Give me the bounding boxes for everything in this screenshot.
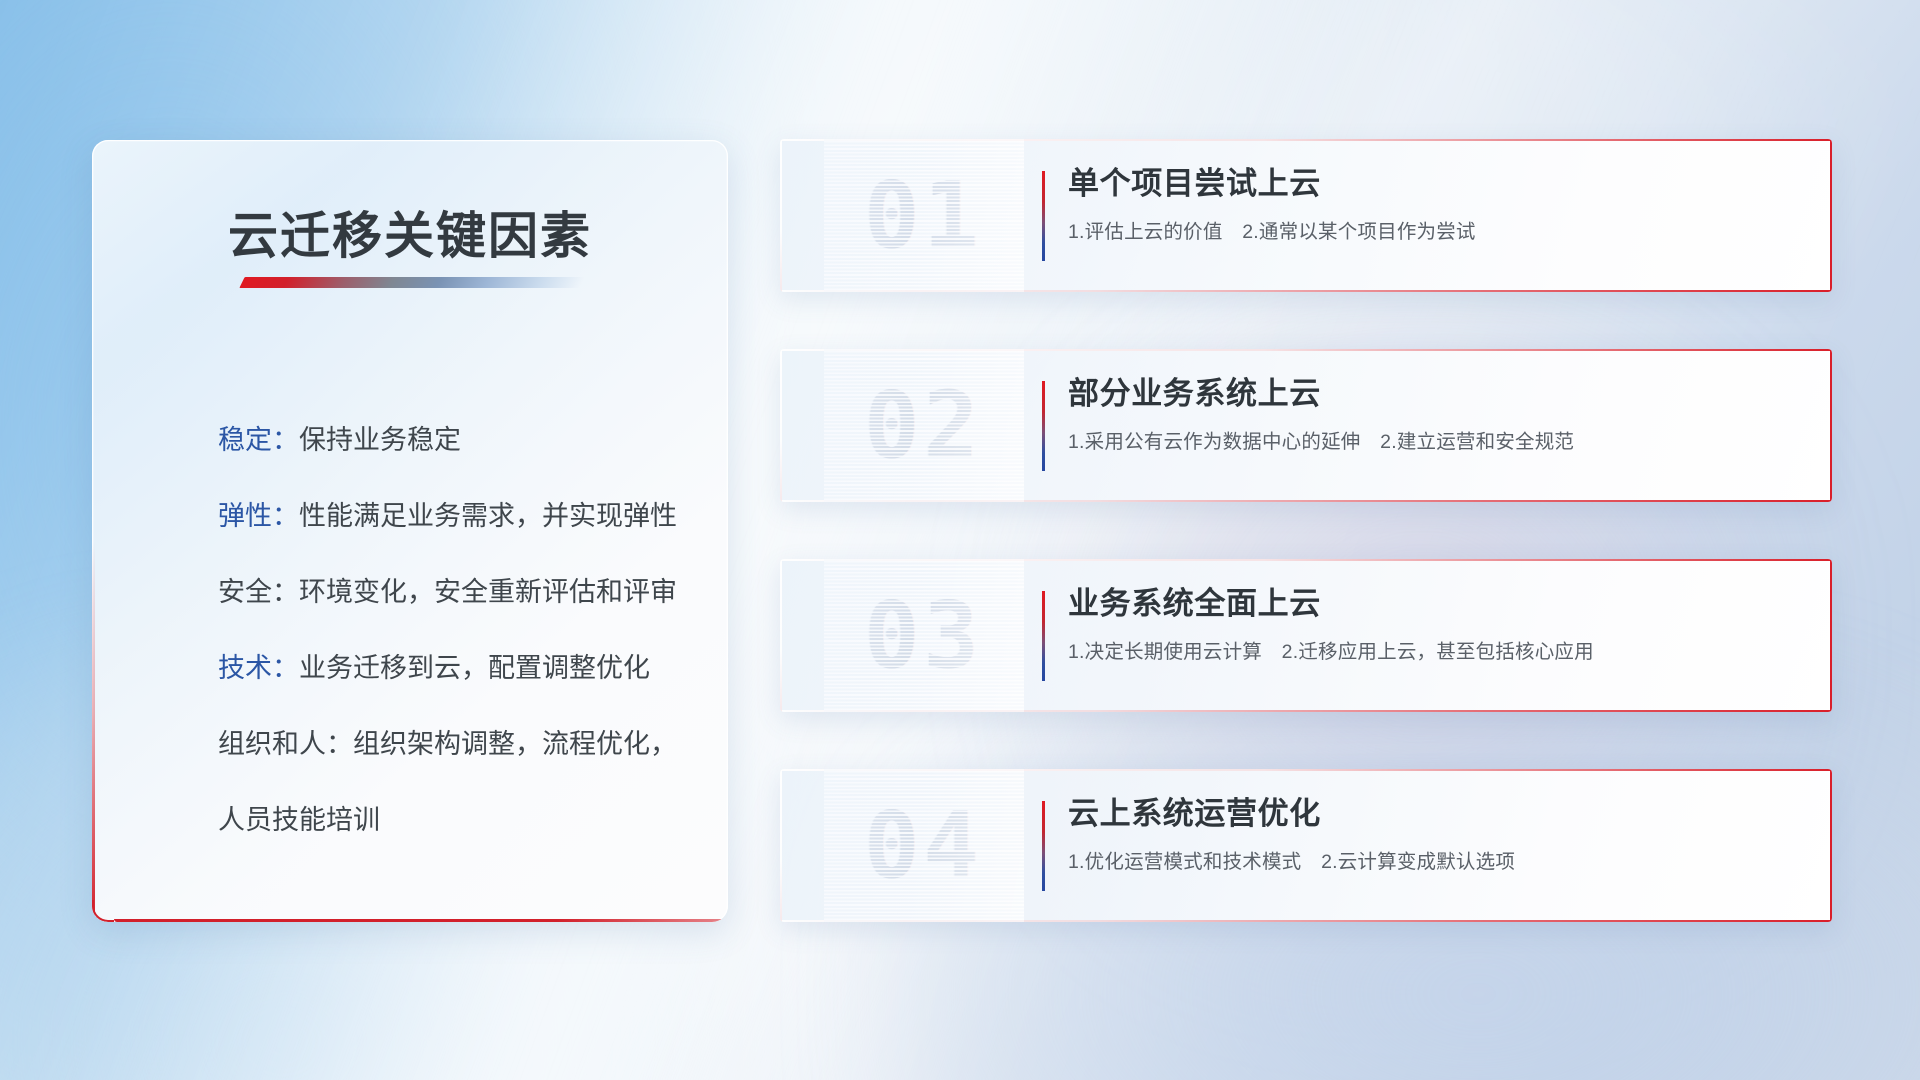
factor-row: 技术：业务迁移到云，配置调整优化 [218,630,686,706]
factor-value: 性能满足业务需求，并实现弹性 [299,501,677,531]
stage-number-watermark: 01 [824,139,1024,292]
card-left-border [780,139,782,292]
card-left-border [780,559,782,712]
title-underline-gradient [239,277,584,288]
stage-accent-bar [1042,171,1045,261]
stage-description: 1.采用公有云作为数据中心的延伸 2.建立运营和安全规范 [1068,425,1796,454]
stage-card-04[interactable]: 04 云上系统运营优化 1.优化运营模式和技术模式 2.云计算变成默认选项 [780,769,1832,922]
stage-title: 单个项目尝试上云 [1068,165,1796,204]
stage-number-watermark: 03 [824,559,1024,712]
card-left-border [780,349,782,502]
card-right-border [1830,559,1832,712]
stage-description: 1.评估上云的价值 2.通常以某个项目作为尝试 [1068,215,1796,244]
panel-red-bottom-border [114,919,728,922]
factor-row-continuation: 人员技能培训 [218,782,686,858]
stage-card-02[interactable]: 02 部分业务系统上云 1.采用公有云作为数据中心的延伸 2.建立运营和安全规范 [780,349,1832,502]
panel-red-left-border [92,542,95,922]
key-factors-panel: 云迁移关键因素 稳定：保持业务稳定 弹性：性能满足业务需求，并实现弹性 安全：环… [92,140,728,922]
factor-row: 组织和人：组织架构调整，流程优化， [218,706,686,782]
factor-value: 业务迁移到云，配置调整优化 [299,653,650,683]
factor-value: 人员技能培训 [218,805,380,835]
factor-value: 保持业务稳定 [299,425,461,455]
stage-title: 部分业务系统上云 [1068,375,1796,414]
stage-accent-bar [1042,381,1045,471]
factor-row: 安全：环境变化，安全重新评估和评审 [218,554,686,630]
migration-stage-list: 01 单个项目尝试上云 1.评估上云的价值 2.通常以某个项目作为尝试 02 部… [780,139,1832,922]
stage-number-watermark: 04 [824,769,1024,922]
factor-row: 弹性：性能满足业务需求，并实现弹性 [218,478,686,554]
stage-text-block: 云上系统运营优化 1.优化运营模式和技术模式 2.云计算变成默认选项 [1068,795,1796,874]
card-right-border [1830,769,1832,922]
factor-label: 技术： [218,653,299,683]
stage-card-01[interactable]: 01 单个项目尝试上云 1.评估上云的价值 2.通常以某个项目作为尝试 [780,139,1832,292]
stage-text-block: 业务系统全面上云 1.决定长期使用云计算 2.迁移应用上云，甚至包括核心应用 [1068,585,1796,664]
factor-value: 环境变化，安全重新评估和评审 [299,577,677,607]
stage-description: 1.优化运营模式和技术模式 2.云计算变成默认选项 [1068,845,1796,874]
stage-accent-bar [1042,801,1045,891]
factor-label: 弹性： [218,501,299,531]
factor-label: 稳定： [218,425,299,455]
card-left-border [780,769,782,922]
stage-number-watermark: 02 [824,349,1024,502]
stage-title: 云上系统运营优化 [1068,795,1796,834]
factor-row: 稳定：保持业务稳定 [218,402,686,478]
factor-value: 组织架构调整，流程优化， [353,729,677,759]
stage-number: 02 [864,380,983,472]
stage-title: 业务系统全面上云 [1068,585,1796,624]
stage-description: 1.决定长期使用云计算 2.迁移应用上云，甚至包括核心应用 [1068,635,1796,664]
stage-number: 04 [864,800,983,892]
page-title: 云迁移关键因素 [92,196,728,268]
stage-number: 01 [864,170,983,262]
stage-card-03[interactable]: 03 业务系统全面上云 1.决定长期使用云计算 2.迁移应用上云，甚至包括核心应… [780,559,1832,712]
stage-number: 03 [864,590,983,682]
factor-label: 安全： [218,577,299,607]
factor-list: 稳定：保持业务稳定 弹性：性能满足业务需求，并实现弹性 安全：环境变化，安全重新… [218,402,686,858]
card-right-border [1830,139,1832,292]
stage-text-block: 单个项目尝试上云 1.评估上云的价值 2.通常以某个项目作为尝试 [1068,165,1796,244]
stage-text-block: 部分业务系统上云 1.采用公有云作为数据中心的延伸 2.建立运营和安全规范 [1068,375,1796,454]
factor-label: 组织和人： [218,729,353,759]
stage-accent-bar [1042,591,1045,681]
card-right-border [1830,349,1832,502]
